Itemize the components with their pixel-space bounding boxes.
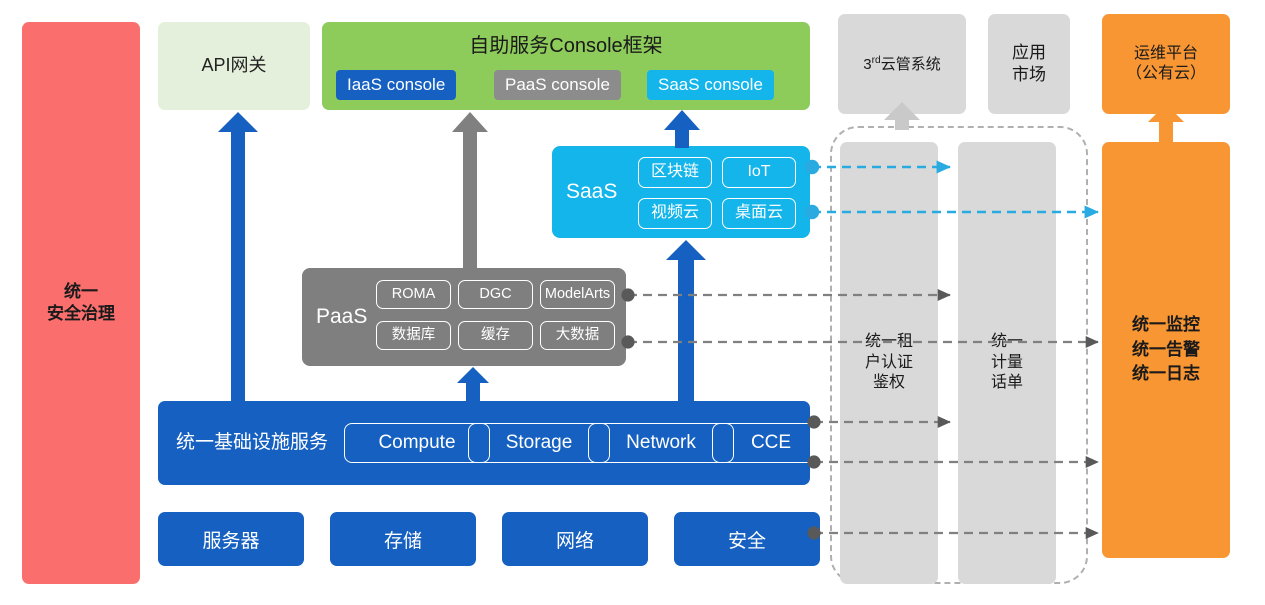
arrow-paas-to-console xyxy=(452,112,488,268)
unified-infrastructure-label: 统一基础设施服务 xyxy=(176,401,328,485)
unified-infrastructure-services-box: 统一基础设施服务 Compute Storage Network CCE xyxy=(158,401,810,485)
saas-service-iot[interactable]: IoT xyxy=(722,157,796,188)
unified-tenant-auth-column: 统一租 户认证 鉴权 xyxy=(840,142,938,584)
paas-layer-box: PaaS ROMA DGC ModelArts 数据库 缓存 大数据 xyxy=(302,268,626,366)
iaas-console-chip[interactable]: IaaS console xyxy=(336,70,456,100)
app-market-label: 应用 市场 xyxy=(1012,42,1046,86)
arrow-infra-to-paas xyxy=(457,367,489,403)
third-party-cloud-label: 3rd云管系统 xyxy=(863,54,940,74)
infra-service-cce[interactable]: CCE xyxy=(712,423,830,463)
saas-service-desktop-cloud[interactable]: 桌面云 xyxy=(722,198,796,229)
security-governance-panel: 统一 安全治理 xyxy=(22,22,140,584)
resource-box-network[interactable]: 网络 xyxy=(502,512,648,566)
unified-metering-billing-column: 统一 计量 话单 xyxy=(958,142,1056,584)
ordinal-superscript: rd xyxy=(872,55,881,66)
app-market-box: 应用 市场 xyxy=(988,14,1070,114)
architecture-diagram: 统一 安全治理 API网关 自助服务Console框架 IaaS console… xyxy=(0,0,1265,605)
arrow-saas-to-console xyxy=(664,110,700,148)
paas-layer-label: PaaS xyxy=(316,268,367,366)
saas-console-chip[interactable]: SaaS console xyxy=(647,70,774,100)
arrow-infra-to-api-gateway xyxy=(218,112,258,401)
ops-platform-header-box: 运维平台 （公有云） xyxy=(1102,14,1230,114)
api-gateway-label: API网关 xyxy=(201,54,266,77)
console-framework-title: 自助服务Console框架 xyxy=(322,34,810,60)
ops-platform-header-label: 运维平台 （公有云） xyxy=(1126,44,1206,85)
paas-console-chip[interactable]: PaaS console xyxy=(494,70,621,100)
arrow-infra-to-saas xyxy=(666,240,706,403)
resource-box-security[interactable]: 安全 xyxy=(674,512,820,566)
paas-service-dgc[interactable]: DGC xyxy=(458,280,533,309)
resource-box-server[interactable]: 服务器 xyxy=(158,512,304,566)
saas-service-blockchain[interactable]: 区块链 xyxy=(638,157,712,188)
api-gateway-box: API网关 xyxy=(158,22,310,110)
third-party-cloud-management-box: 3rd云管系统 xyxy=(838,14,966,114)
security-governance-label: 统一 安全治理 xyxy=(47,281,115,325)
paas-service-database[interactable]: 数据库 xyxy=(376,321,451,350)
ops-monitoring-label: 统一监控 统一告警 统一日志 xyxy=(1132,313,1200,387)
saas-service-video-cloud[interactable]: 视频云 xyxy=(638,198,712,229)
saas-layer-box: SaaS 区块链 IoT 视频云 桌面云 xyxy=(552,146,810,238)
paas-service-cache[interactable]: 缓存 xyxy=(458,321,533,350)
paas-service-modelarts[interactable]: ModelArts xyxy=(540,280,615,309)
paas-service-roma[interactable]: ROMA xyxy=(376,280,451,309)
resource-box-storage[interactable]: 存储 xyxy=(330,512,476,566)
saas-layer-label: SaaS xyxy=(566,146,617,238)
console-framework-box: 自助服务Console框架 IaaS console PaaS console … xyxy=(322,22,810,110)
paas-service-bigdata[interactable]: 大数据 xyxy=(540,321,615,350)
ops-monitoring-panel: 统一监控 统一告警 统一日志 xyxy=(1102,142,1230,558)
